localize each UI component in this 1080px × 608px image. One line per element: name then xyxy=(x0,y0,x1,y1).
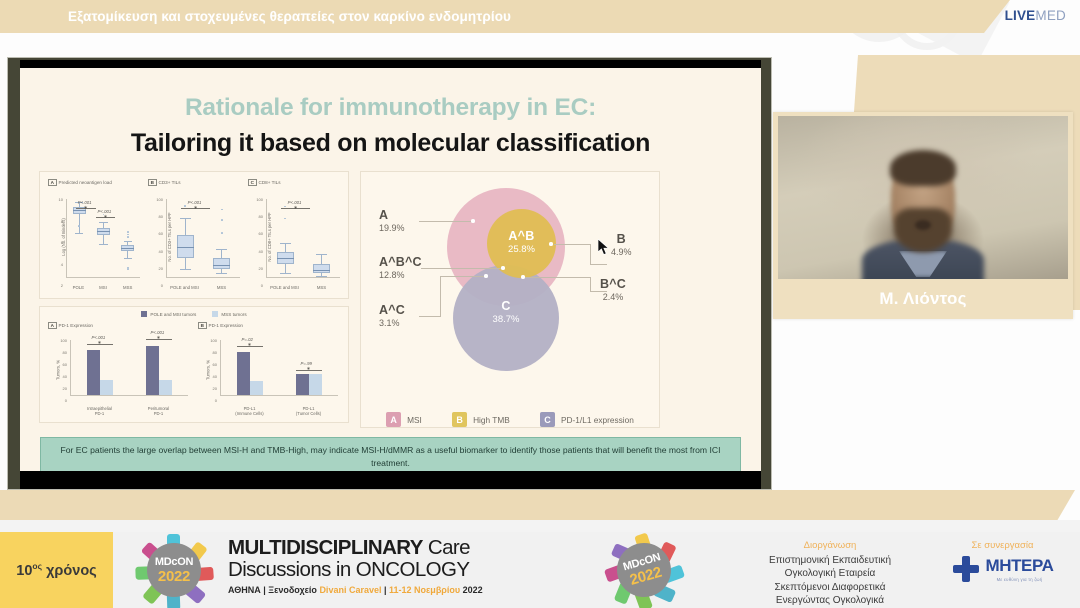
mouse-cursor xyxy=(598,239,610,256)
organizer-line: Σκεπτόμενοι Διαφορετικά xyxy=(740,581,920,594)
boxplot-ytick: 80 xyxy=(150,214,163,219)
boxplot-ytick: 0 xyxy=(150,283,163,288)
barchart-xtick: PeritumoralPD-1 xyxy=(133,406,185,417)
mitera-logo: ΜΗΤΕΡΑ Με ευθύνη για τη ζωή xyxy=(930,554,1075,584)
speaker-video-feed[interactable] xyxy=(778,116,1068,279)
legend-swatch xyxy=(212,311,218,317)
venn-legend-label: High TMB xyxy=(473,415,510,425)
event-dates: 11-12 Νοεμβρίου xyxy=(389,585,460,595)
boxplot-median xyxy=(97,231,110,232)
boxplot-caption-text: CD3+ TILs xyxy=(159,180,181,185)
leader-dot-ac xyxy=(484,274,488,278)
boxplot-xtick: MSI xyxy=(99,285,107,290)
significance-label: P<.001 xyxy=(188,200,202,205)
event-subtitle: ΑΘΗΝΑ | Ξενοδοχείο Divani Caravel | 11-1… xyxy=(228,585,538,595)
venn-label-abc-text: A^B^C xyxy=(379,255,422,269)
boxplot-cap xyxy=(75,233,84,234)
significance-label: P<.001 xyxy=(92,335,106,340)
boxplot-chart-c: CCD8+ TILsNo. of CD8+ TILs per HPF100806… xyxy=(244,177,344,296)
venn-label-b: B 4.9% xyxy=(611,232,632,257)
boxplot-median xyxy=(213,265,230,266)
boxplot-xtick: POLE xyxy=(73,285,84,290)
anniversary-word: χρόνος xyxy=(46,563,97,579)
leader-line-b-h xyxy=(590,264,607,265)
boxplot-ytick: 20 xyxy=(150,266,163,271)
boxplot-outlier xyxy=(284,218,286,220)
barchart-ytick: 40 xyxy=(204,374,217,379)
significance-label: P<.001 xyxy=(98,209,112,214)
event-title-light2: Discussions in xyxy=(228,558,351,581)
boxplot-outlier xyxy=(221,219,223,221)
mitera-tagline: Με ευθύνη για τη ζωή xyxy=(985,577,1053,582)
boxplot-xtick: POLE and MSI xyxy=(270,285,299,290)
significance-marker: ∗ xyxy=(294,205,298,211)
venn-label-c: C 38.7% xyxy=(453,299,559,325)
event-title-line2: Discussions in ONCOLOGY xyxy=(228,559,538,581)
event-title-bold2: ONCOLOGY xyxy=(356,558,470,581)
significance-marker: ∗ xyxy=(84,205,88,211)
boxplot-axes xyxy=(266,199,340,278)
boxplot-caption-text: Predicted neoantigen load xyxy=(59,180,112,185)
barchart-ytick: 20 xyxy=(54,386,67,391)
barchart-caption: APD-1 Expression xyxy=(48,322,93,329)
boxplot-median xyxy=(313,270,330,271)
mdcon-disc-left: MDcON 2022 xyxy=(147,543,201,597)
boxplot-iqr xyxy=(213,258,230,268)
barchart-letter: B xyxy=(198,322,207,329)
venn-label-c-text: C xyxy=(453,299,559,313)
slide-letterbox: Rationale for immunotherapy in EC: Tailo… xyxy=(20,60,761,489)
boxplot-ytick: 8 xyxy=(50,219,63,224)
boxplot-cap xyxy=(180,269,191,270)
bar xyxy=(309,374,322,395)
barchart-xtick: PD-L1(Tumor Cells) xyxy=(283,406,335,417)
boxplot-median xyxy=(177,247,194,248)
leader-line-bc xyxy=(525,277,591,278)
venn-label-b-text: B xyxy=(611,232,632,246)
barchart-ytick: 60 xyxy=(54,362,67,367)
boxplot-ylabel: No. of CD8+ TILs per HPF xyxy=(267,212,272,261)
slide-title-line2: Tailoring it based on molecular classifi… xyxy=(20,129,761,158)
barchart-a: APD-1 ExpressionTumors, %100806040200Int… xyxy=(44,320,194,420)
livemed-logo-primary: LIVE xyxy=(1005,8,1036,23)
legend-label: POLE and MSI tumors xyxy=(150,312,196,317)
significance-marker: ∗ xyxy=(97,340,101,346)
barchart-ytick: 0 xyxy=(204,398,217,403)
boxplot-outlier xyxy=(221,232,223,234)
venn-label-ab: A^B 25.8% xyxy=(487,229,556,255)
boxplot-outlier xyxy=(127,268,129,270)
leader-line-ac-v xyxy=(440,276,441,317)
venn-legend-key: B xyxy=(452,412,467,427)
barchart-ytick: 80 xyxy=(204,350,217,355)
venn-legend: AMSIBHigh TMBCPD-1/L1 expression xyxy=(361,408,659,427)
venn-label-a-pct: 19.9% xyxy=(379,223,405,233)
boxplot-median xyxy=(121,248,134,249)
significance-label: P=.02 xyxy=(242,337,253,342)
page-title: Εξατομίκευση και στοχευμένες θεραπείες σ… xyxy=(68,9,511,24)
leader-line-bc-v xyxy=(590,277,591,291)
venn-label-ac-pct: 3.1% xyxy=(379,318,405,328)
barchart-axes xyxy=(70,340,188,396)
boxplot-outlier xyxy=(127,234,129,236)
legend-swatch xyxy=(141,311,147,317)
bar xyxy=(146,346,159,396)
event-title-light1: Care xyxy=(428,536,470,559)
anniversary-text: 10ος χρόνος xyxy=(16,561,96,579)
speaker-name: Μ. Λιόντος xyxy=(773,289,1073,309)
cooperation-heading: Σε συνεργασία xyxy=(930,540,1075,551)
boxplot-ytick: 2 xyxy=(50,283,63,288)
boxplot-xtick: POLE and MSI xyxy=(170,285,199,290)
slide-title-line1: Rationale for immunotherapy in EC: xyxy=(20,94,761,122)
barchart-caption-text: PD-1 Expression xyxy=(59,323,93,328)
boxplot-cap xyxy=(280,243,291,244)
leader-dot-bc xyxy=(521,275,525,279)
event-sep: | xyxy=(381,585,389,595)
venn-legend-item: CPD-1/L1 expression xyxy=(540,412,634,427)
venn-label-bc-pct: 2.4% xyxy=(600,292,626,302)
significance-label: P<.001 xyxy=(151,330,165,335)
venn-label-ac: A^C 3.1% xyxy=(379,303,405,328)
barchart-ytick: 100 xyxy=(54,338,67,343)
boxplot-caption: BCD3+ TILs xyxy=(148,179,181,186)
event-title-line1: MULTIDISCIPLINARY Care xyxy=(228,538,538,559)
venn-label-bc-text: B^C xyxy=(600,277,626,291)
leader-dot-a xyxy=(471,219,475,223)
mitera-wordmark: ΜΗΤΕΡΑ xyxy=(985,556,1053,576)
significance-marker: ∗ xyxy=(103,214,107,220)
bar xyxy=(296,374,309,395)
organizer-lines: Επιστημονική ΕκπαιδευτικήΟγκολογική Εται… xyxy=(740,554,920,608)
venn-label-a-text: A xyxy=(379,208,405,222)
legend-label: MSS tumors xyxy=(221,312,246,317)
boxplot-caption-text: CD8+ TILs xyxy=(259,180,281,185)
boxplot-outlier xyxy=(221,209,223,211)
significance-marker: ∗ xyxy=(156,335,160,341)
significance-marker: ∗ xyxy=(247,342,251,348)
venn-legend-key: C xyxy=(540,412,555,427)
slide-frame[interactable]: Rationale for immunotherapy in EC: Tailo… xyxy=(7,57,772,490)
boxplot-letter: B xyxy=(148,179,157,186)
boxplot-cap xyxy=(99,222,108,223)
leader-line-b xyxy=(554,244,591,245)
boxplot-outlier xyxy=(127,231,129,233)
bar xyxy=(250,381,263,395)
boxplot-caption: CCD8+ TILs xyxy=(248,179,281,186)
event-year: 2022 xyxy=(460,585,483,595)
organizer-heading: Διοργάνωση xyxy=(740,540,920,551)
boxplot-ylabel: No. of CD3+ TILs per HPF xyxy=(167,212,172,261)
barchart-legend-item: MSS tumors xyxy=(212,311,246,317)
barchart-legend: POLE and MSI tumorsMSS tumors xyxy=(40,307,348,318)
barchart-row: APD-1 ExpressionTumors, %100806040200Int… xyxy=(40,318,348,422)
boxplot-ytick: 100 xyxy=(150,197,163,202)
barchart-caption: BPD-1 Expression xyxy=(198,322,243,329)
boxplot-ytick: 100 xyxy=(250,197,263,202)
significance-label: P<.001 xyxy=(288,200,302,205)
anniversary-badge: 10ος χρόνος xyxy=(0,532,113,608)
boxplot-xtick: MSS xyxy=(123,285,132,290)
livemed-logo-secondary: MED xyxy=(1035,8,1066,23)
venn-legend-item: BHigh TMB xyxy=(452,412,510,427)
livemed-logo: LIVEMED xyxy=(1005,8,1066,23)
organizer-line: Ενεργώντας Ογκολογικά xyxy=(740,594,920,607)
boxplot-row: APredicted neoantigen loadLog (No. of Bi… xyxy=(40,172,348,298)
barchart-ytick: 80 xyxy=(54,350,67,355)
bar xyxy=(159,380,172,395)
venn-label-b-pct: 4.9% xyxy=(611,247,632,257)
boxplot-letter: A xyxy=(48,179,57,186)
leader-line-a xyxy=(419,221,475,222)
leader-line-ac-h xyxy=(440,276,486,277)
organizer-line: Επιστημονική Εκπαιδευτική xyxy=(740,554,920,567)
leader-line-b-v xyxy=(590,244,591,264)
boxplot-cap xyxy=(216,273,227,274)
mdcon-logo-left: MDcON 2022 xyxy=(138,534,210,606)
event-title-bold1: MULTIDISCIPLINARY xyxy=(228,536,423,559)
boxplot-ytick: 60 xyxy=(250,231,263,236)
anniversary-number: 10 xyxy=(16,563,32,579)
boxplot-ytick: 6 xyxy=(50,240,63,245)
significance-marker: ∗ xyxy=(306,366,310,372)
venn-label-ab-pct: 25.8% xyxy=(487,244,556,255)
boxplot-cap xyxy=(180,218,191,219)
boxplot-cap xyxy=(99,244,108,245)
boxplot-ytick: 4 xyxy=(50,262,63,267)
boxplot-iqr xyxy=(313,264,330,272)
boxplot-ytick: 40 xyxy=(150,249,163,254)
boxplot-median xyxy=(277,258,294,259)
significance-label: P=.99 xyxy=(301,361,312,366)
barchart-xtick: IntraepithelialPD-1 xyxy=(74,406,126,417)
event-city: ΑΘΗΝΑ | Ξενοδοχείο xyxy=(228,585,319,595)
boxplot-axes xyxy=(166,199,240,278)
leader-line-ac xyxy=(419,316,441,317)
barchart-xtick: PD-L1(Immune Cells) xyxy=(224,406,276,417)
mdcon-logo-right: MDcON 2022 xyxy=(608,534,680,606)
barchart-ytick: 0 xyxy=(54,398,67,403)
speaker-video-card[interactable]: Μ. Λιόντος xyxy=(773,112,1073,319)
boxplot-ytick: 10 xyxy=(50,197,63,202)
figures-column: APredicted neoantigen loadLog (No. of Bi… xyxy=(39,171,349,428)
key-message-callout: For EC patients the large overlap betwee… xyxy=(40,437,741,471)
boxplot-chart-b: BCD3+ TILsNo. of CD3+ TILs per HPF100806… xyxy=(144,177,244,296)
boxplot-outlier xyxy=(78,225,80,227)
boxplot-ytick: 0 xyxy=(250,283,263,288)
significance-label: P<.001 xyxy=(78,200,92,205)
mdcon-disc-bottom: 2022 xyxy=(158,569,190,584)
boxplot-letter: C xyxy=(248,179,257,186)
barchart-b: BPD-1 ExpressionTumors, %100806040200PD-… xyxy=(194,320,344,420)
venn-label-c-pct: 38.7% xyxy=(453,314,559,325)
boxplot-cap xyxy=(124,258,133,259)
venn-label-bc: B^C 2.4% xyxy=(600,277,626,302)
boxplot-ytick: 80 xyxy=(250,214,263,219)
barchart-letter: A xyxy=(48,322,57,329)
barchart-caption-text: PD-1 Expression xyxy=(209,323,243,328)
boxplot-caption: APredicted neoantigen load xyxy=(48,179,112,186)
mitera-cross-icon xyxy=(951,554,981,584)
barchart-ytick: 100 xyxy=(204,338,217,343)
boxplot-cap xyxy=(316,254,327,255)
boxplot-cap xyxy=(216,249,227,250)
boxplot-ytick: 20 xyxy=(250,266,263,271)
organizer-line: Ογκολογική Εταιρεία xyxy=(740,567,920,580)
venn-label-abc-pct: 12.8% xyxy=(379,270,422,280)
venn-legend-label: PD-1/L1 expression xyxy=(561,415,634,425)
event-venue: Divani Caravel xyxy=(319,585,381,595)
event-title: MULTIDISCIPLINARY Care Discussions in ON… xyxy=(228,538,538,595)
speaker-hair xyxy=(890,150,956,186)
significance-marker: ∗ xyxy=(194,205,198,211)
leader-line-abc xyxy=(421,268,503,269)
boxplot-xtick: MSS xyxy=(317,285,326,290)
anniversary-suffix: ος xyxy=(32,561,42,571)
venn-legend-key: A xyxy=(386,412,401,427)
barchart-panel: POLE and MSI tumorsMSS tumors APD-1 Expr… xyxy=(39,306,349,423)
venn-label-ab-text: A^B xyxy=(487,229,556,243)
venn-label-abc: A^B^C 12.8% xyxy=(379,255,422,280)
organizer-block: Διοργάνωση Επιστημονική ΕκπαιδευτικήΟγκο… xyxy=(740,540,920,608)
leader-dot-abc xyxy=(501,266,505,270)
boxplot-outlier xyxy=(184,205,186,207)
footer-banner: 10ος χρόνος MDcON 2022 MULTIDISCIPLINARY… xyxy=(0,532,1080,608)
bar xyxy=(87,350,100,395)
barchart-ytick: 20 xyxy=(204,386,217,391)
boxplot-cap xyxy=(316,276,327,277)
barchart-ytick: 40 xyxy=(54,374,67,379)
bar xyxy=(100,380,113,395)
barchart-legend-item: POLE and MSI tumors xyxy=(141,311,196,317)
bar xyxy=(237,352,250,395)
barchart-axes xyxy=(220,340,338,396)
venn-label-ac-text: A^C xyxy=(379,303,405,317)
screen: Εξατομίκευση και στοχευμένες θεραπείες σ… xyxy=(0,0,1080,608)
venn-legend-label: MSI xyxy=(407,415,422,425)
boxplot-cap xyxy=(280,273,291,274)
barchart-ytick: 60 xyxy=(204,362,217,367)
boxplot-cap xyxy=(124,241,133,242)
boxplot-panel: APredicted neoantigen loadLog (No. of Bi… xyxy=(39,171,349,299)
venn-legend-item: AMSI xyxy=(386,412,422,427)
mdcon-disc-top: MDcON xyxy=(155,557,193,568)
slide-content: Rationale for immunotherapy in EC: Tailo… xyxy=(20,68,761,471)
venn-label-a: A 19.9% xyxy=(379,208,405,233)
venn-panel: A 19.9% A^B^C 12.8% A^C 3.1% xyxy=(360,171,660,428)
speaker-mouth xyxy=(915,220,931,230)
boxplot-ytick: 60 xyxy=(150,231,163,236)
speaker-beard xyxy=(894,208,952,252)
cooperation-block: Σε συνεργασία ΜΗΤΕΡΑ Με ευθύνη για τη ζω… xyxy=(930,540,1075,584)
venn-diagram: A 19.9% A^B^C 12.8% A^C 3.1% xyxy=(361,172,659,408)
boxplot-ytick: 40 xyxy=(250,249,263,254)
boxplot-xtick: MSS xyxy=(217,285,226,290)
boxplot-chart-a: APredicted neoantigen loadLog (No. of Bi… xyxy=(44,177,144,296)
slide-body: APredicted neoantigen loadLog (No. of Bi… xyxy=(20,171,761,428)
boxplot-outlier xyxy=(127,236,129,238)
